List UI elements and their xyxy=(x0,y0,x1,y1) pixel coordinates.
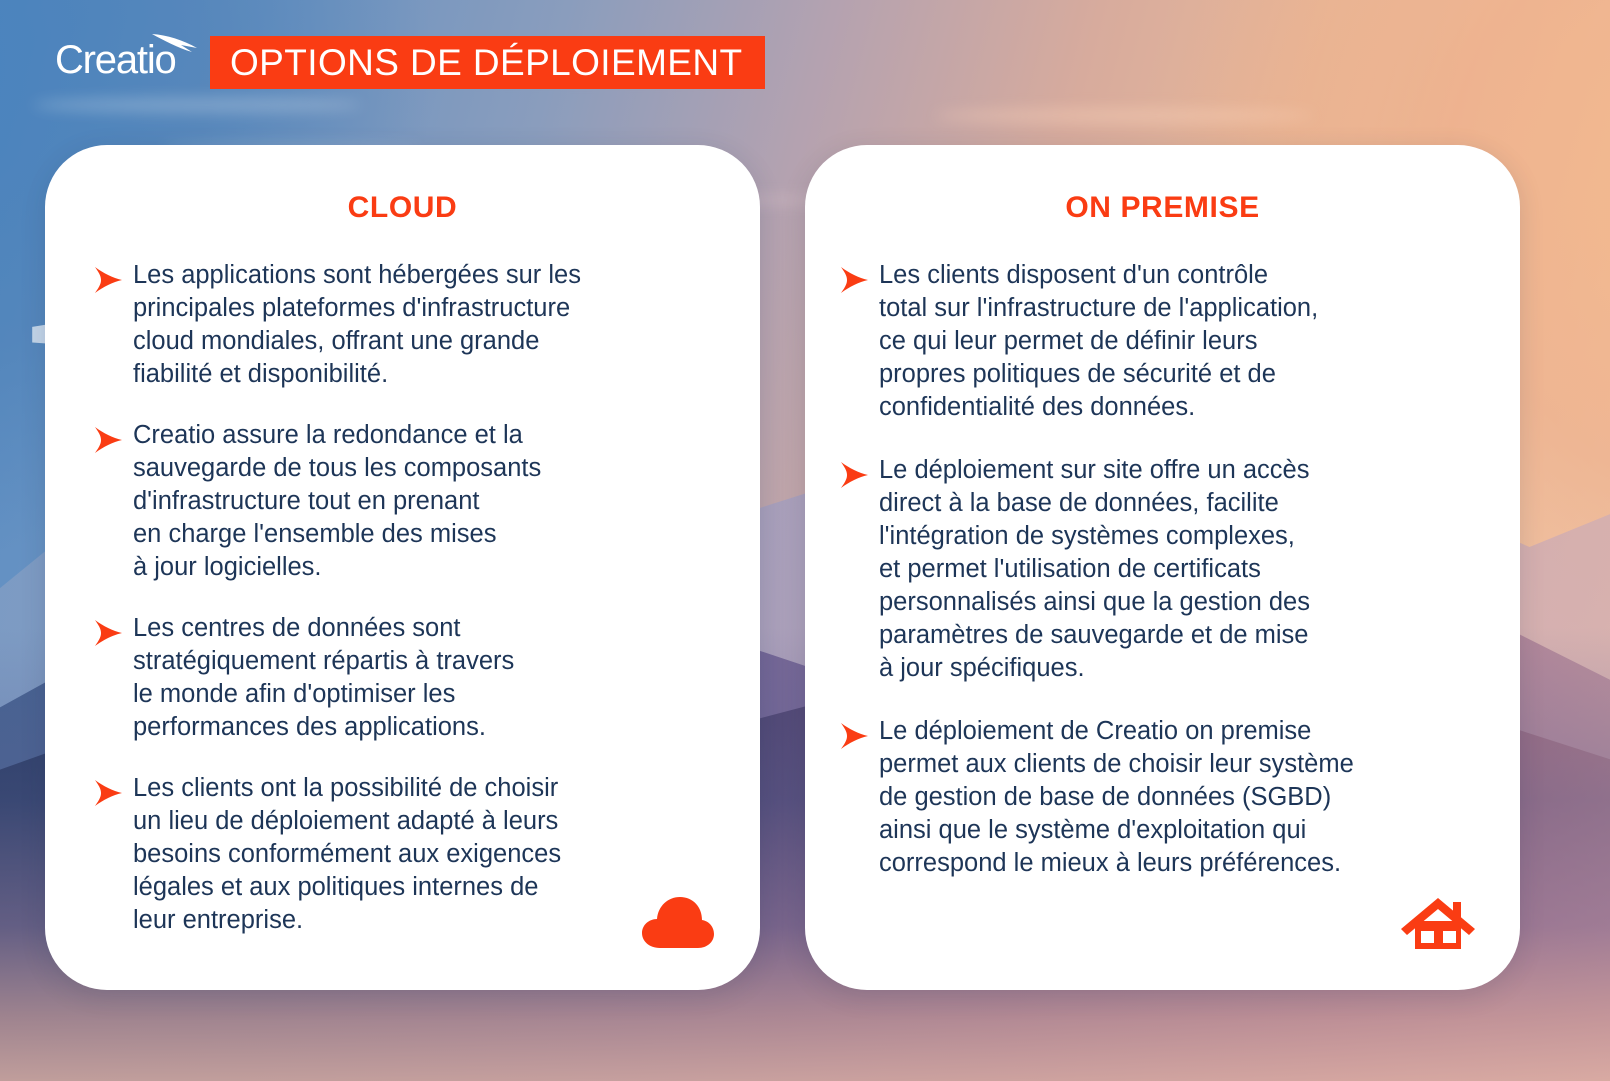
title-banner: OPTIONS DE DÉPLOIEMENT xyxy=(210,36,765,89)
card-cloud-bullet-list: Les applications sont hébergées sur les … xyxy=(45,259,760,937)
chevron-right-icon xyxy=(91,265,125,295)
list-item-text: Les applications sont hébergées sur les … xyxy=(133,259,581,391)
cloud-streak xyxy=(934,108,1314,123)
cloud-icon xyxy=(640,892,716,952)
chevron-right-icon xyxy=(91,618,125,648)
list-item-text: Le déploiement sur site offre un accès d… xyxy=(879,454,1310,685)
list-item-text: Les centres de données sont stratégiquem… xyxy=(133,612,514,744)
chevron-right-icon xyxy=(91,425,125,455)
card-cloud: CLOUD Les applications sont hébergées su… xyxy=(45,145,760,990)
list-item: Les centres de données sont stratégiquem… xyxy=(91,612,724,744)
creatio-swoosh-icon xyxy=(151,32,199,54)
chevron-right-icon xyxy=(837,460,871,490)
page-title: OPTIONS DE DÉPLOIEMENT xyxy=(230,42,743,84)
list-item: Le déploiement de Creatio on premise per… xyxy=(837,715,1494,880)
list-item-text: Les clients ont la possibilité de choisi… xyxy=(133,772,561,937)
list-item-text: Le déploiement de Creatio on premise per… xyxy=(879,715,1354,880)
page-header: Creatio OPTIONS DE DÉPLOIEMENT xyxy=(0,0,1610,110)
list-item: Les applications sont hébergées sur les … xyxy=(91,259,724,391)
card-onpremise-bullet-list: Les clients disposent d'un contrôle tota… xyxy=(805,259,1520,880)
list-item-text: Les clients disposent d'un contrôle tota… xyxy=(879,259,1318,424)
list-item: Le déploiement sur site offre un accès d… xyxy=(837,454,1494,685)
card-onpremise: ON PREMISE Les clients disposent d'un co… xyxy=(805,145,1520,990)
list-item-text: Creatio assure la redondance et la sauve… xyxy=(133,419,541,584)
house-icon xyxy=(1400,892,1476,952)
list-item: Creatio assure la redondance et la sauve… xyxy=(91,419,724,584)
card-onpremise-title: ON PREMISE xyxy=(805,191,1520,225)
list-item: Les clients disposent d'un contrôle tota… xyxy=(837,259,1494,424)
chevron-right-icon xyxy=(837,265,871,295)
chevron-right-icon xyxy=(91,778,125,808)
card-cloud-title: CLOUD xyxy=(45,191,760,225)
creatio-logo: Creatio xyxy=(55,36,205,84)
list-item: Les clients ont la possibilité de choisi… xyxy=(91,772,724,937)
chevron-right-icon xyxy=(837,721,871,751)
